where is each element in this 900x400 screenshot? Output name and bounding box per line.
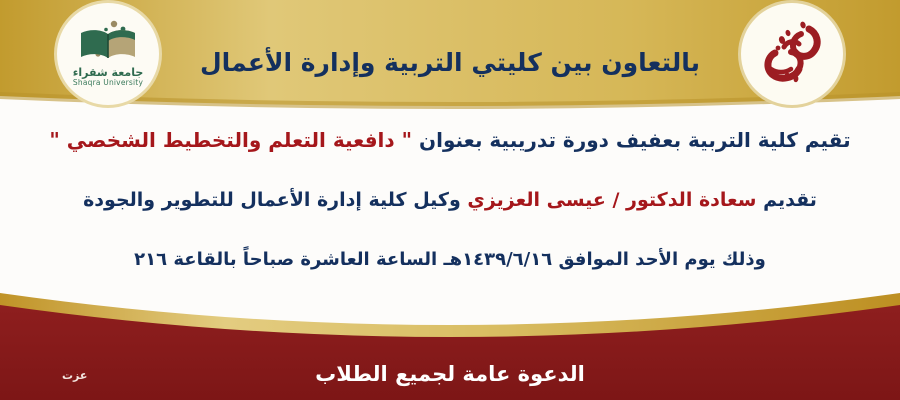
- presenter-prefix: تقديم: [763, 189, 817, 211]
- university-name-english: Shaqra University: [73, 79, 143, 87]
- footer-invitation-text: الدعوة عامة لجميع الطلاب: [0, 362, 900, 386]
- poster-headline: بالتعاون بين كليتي التربية وإدارة الأعما…: [0, 48, 900, 77]
- course-title: دافعية التعلم والتخطيط الشخصي: [67, 128, 395, 152]
- poster-canvas: جامعة شقراء Shaqra University: [0, 0, 900, 400]
- quote-open: ": [402, 128, 412, 152]
- designer-signature: عزت: [62, 369, 87, 382]
- course-announcement-prefix: تقيم كلية التربية بعفيف دورة تدريبية بعن…: [419, 128, 851, 152]
- presenter-name: سعادة الدكتور / عيسى العزيزي: [467, 189, 756, 211]
- poster-body: تقيم كلية التربية بعفيف دورة تدريبية بعن…: [0, 120, 900, 271]
- course-announcement-line: تقيم كلية التربية بعفيف دورة تدريبية بعن…: [0, 128, 900, 153]
- presenter-line: تقديم سعادة الدكتور / عيسى العزيزي وكيل …: [0, 189, 900, 213]
- presenter-title: وكيل كلية إدارة الأعمال للتطوير والجودة: [83, 189, 461, 211]
- quote-close: ": [49, 128, 59, 152]
- datetime-venue-line: وذلك يوم الأحد الموافق ١٤٣٩/٦/١٦هـ الساع…: [0, 249, 900, 272]
